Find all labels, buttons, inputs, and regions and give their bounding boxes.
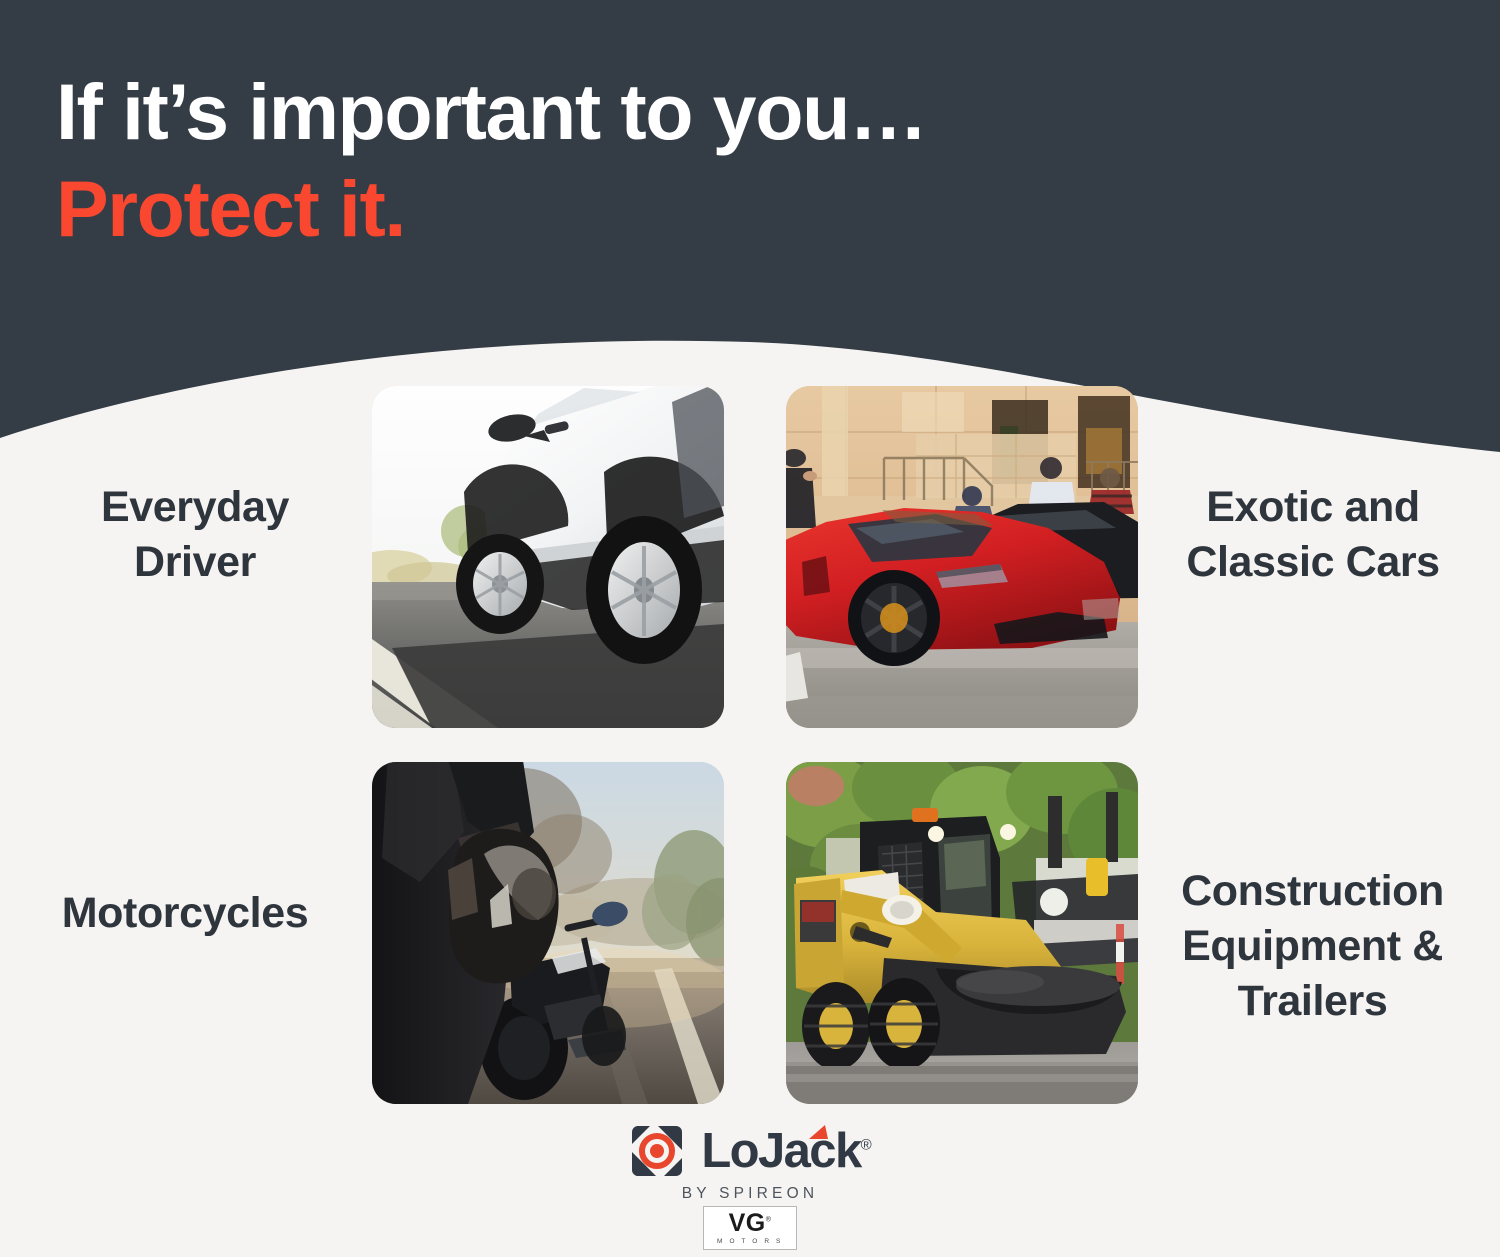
vg-motors-wordmark-text: VG (729, 1209, 766, 1237)
label-motorcycles: Motorcycles (10, 886, 360, 941)
lojack-wordmark: LoJack® (701, 1127, 871, 1176)
motorcycle-rider-photo (372, 762, 724, 1104)
registered-trademark-icon: ® (861, 1136, 872, 1153)
vg-motors-logo: VG® M O T O R S (0, 1206, 1500, 1250)
lojack-shutter-icon (628, 1122, 686, 1180)
label-everyday-driver: Everyday Driver (30, 480, 360, 590)
photo-tile-construction-equipment (786, 762, 1138, 1104)
red-supercar-photo (786, 386, 1138, 728)
label-line: Motorcycles (10, 886, 360, 941)
label-exotic-classic-cars: Exotic and Classic Cars (1148, 480, 1478, 590)
vg-motors-box: VG® M O T O R S (703, 1206, 797, 1250)
label-line: Trailers (1140, 974, 1485, 1029)
lojack-wordmark-text: LoJack (701, 1124, 860, 1178)
photo-tile-exotic-classic-cars (786, 386, 1138, 728)
vg-registered-trademark-icon: ® (766, 1217, 772, 1224)
skid-steer-loader-photo (786, 762, 1138, 1104)
label-line: Classic Cars (1148, 535, 1478, 590)
photo-tile-everyday-driver (372, 386, 724, 728)
label-construction-equipment-trailers: Construction Equipment & Trailers (1140, 864, 1485, 1029)
white-suv-on-road-photo (372, 386, 724, 728)
poster-canvas: If it’s important to you… Protect it. Ev… (0, 0, 1500, 1257)
photo-tile-motorcycles (372, 762, 724, 1104)
lojack-tagline: BY SPIREON (682, 1185, 818, 1203)
label-line: Driver (30, 535, 360, 590)
label-line: Everyday (30, 480, 360, 535)
headline-line-2: Protect it. (56, 169, 927, 248)
vg-motors-subtext: M O T O R S (717, 1238, 783, 1245)
vg-motors-wordmark: VG® (729, 1211, 772, 1236)
headline-line-1: If it’s important to you… (56, 72, 927, 151)
category-grid: Everyday Driver Exotic and Classic Cars … (0, 386, 1500, 1105)
headline: If it’s important to you… Protect it. (56, 72, 927, 248)
lojack-logo-row: LoJack® (628, 1122, 871, 1180)
label-line: Exotic and (1148, 480, 1478, 535)
label-line: Equipment & (1140, 919, 1485, 974)
label-line: Construction (1140, 864, 1485, 919)
lojack-logo: LoJack® BY SPIREON (0, 1122, 1500, 1203)
lojack-accent-triangle-icon (809, 1125, 829, 1141)
